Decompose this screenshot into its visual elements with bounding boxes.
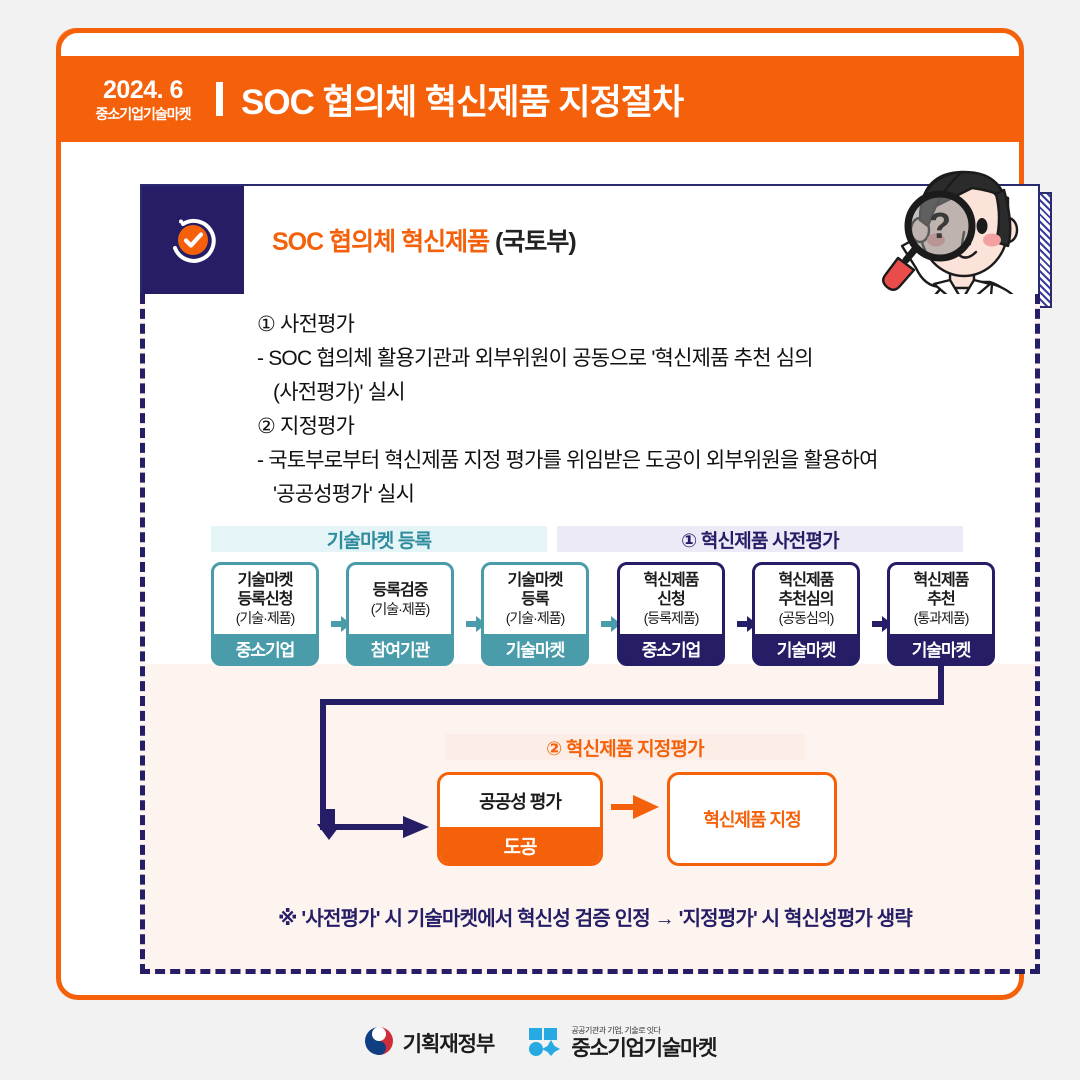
footer-logos: 기획재정부 공공기관과 기업, 기술로 잇다 중소기업기술마켓 [0, 1016, 1080, 1070]
flow-node-orange-1: 공공성 평가 도공 [437, 772, 603, 866]
node-line-1: 기술마켓 [508, 571, 563, 590]
flow-node-label: 공공성 평가 [440, 775, 600, 827]
flow-node-actor: 중소기업 [620, 634, 722, 663]
infographic-page: 2024. 6 중소기업기술마켓 SOC 협의체 혁신제품 지정절차 SOC 협 [0, 0, 1080, 1080]
flow-node-text: 기술마켓 등록신청 (기술·제품) [214, 565, 316, 634]
logo-tagline: 공공기관과 기업, 기술로 잇다 [571, 1027, 716, 1035]
flow-node-text: 혁신제품 신청 (등록제품) [620, 565, 722, 634]
node-line-3: (기술·제품) [506, 609, 565, 628]
svg-text:?: ? [929, 205, 951, 246]
taegeuk-icon [364, 1026, 394, 1061]
node-line-1: 혁신제품 [779, 571, 834, 590]
node-line-2: 등록신청 [238, 590, 293, 609]
node-line-3: (공동심의) [779, 609, 834, 628]
node-line-2: 추천심의 [779, 590, 834, 609]
flow-node-teal-2: 등록검증 (기술·제품) 참여기관 [346, 562, 454, 666]
band-registration: 기술마켓 등록 [211, 526, 547, 552]
check-circle-icon [142, 186, 244, 294]
flow-node-actor: 기술마켓 [890, 634, 992, 663]
logo-tech-market-label: 중소기업기술마켓 [571, 1038, 716, 1059]
footnote: ※ '사전평가' 시 기술마켓에서 혁신성 검증 인정 → '지정평가' 시 혁… [145, 902, 1045, 931]
node-line-1: 기술마켓 [238, 571, 293, 590]
section-title: SOC 협의체 혁신제품 (국토부) [272, 222, 576, 258]
node-line-2: 신청 [657, 590, 684, 609]
flow-node-actor: 중소기업 [214, 634, 316, 663]
flow-node-text: 혁신제품 추천심의 (공동심의) [755, 565, 857, 634]
flow-node-text: 등록검증 (기술·제품) [349, 565, 451, 634]
logo-tech-market: 공공기관과 기업, 기술로 잇다 중소기업기술마켓 [528, 1026, 716, 1061]
node-line-3: (기술·제품) [371, 600, 430, 619]
node-line-3: (등록제품) [644, 609, 699, 628]
band-preevaluation: ① 혁신제품 사전평가 [557, 526, 963, 552]
flow-node-actor: 기술마켓 [755, 634, 857, 663]
flow-node-actor: 참여기관 [349, 634, 451, 663]
node-line-3: (기술·제품) [236, 609, 295, 628]
page-title: SOC 협의체 혁신제품 지정절차 [241, 74, 683, 125]
vertical-bar-icon [216, 82, 223, 116]
node-line-1: 혁신제품 [644, 571, 699, 590]
node-line-1: 혁신제품 [914, 571, 969, 590]
flow-node-teal-1: 기술마켓 등록신청 (기술·제품) 중소기업 [211, 562, 319, 666]
logo-moef-label: 기획재정부 [403, 1028, 495, 1058]
flow-diagram: 기술마켓 등록 ① 혁신제품 사전평가 ② 혁신제품 지정평가 기술마켓 등록신… [145, 294, 1045, 974]
logo-tech-market-text: 공공기관과 기업, 기술로 잇다 중소기업기술마켓 [571, 1027, 716, 1059]
flow-node-navy-2: 혁신제품 추천심의 (공동심의) 기술마켓 [752, 562, 860, 666]
header-date: 2024. 6 [84, 78, 202, 103]
flow-node-orange-2: 혁신제품 지정 [667, 772, 837, 866]
page-header: 2024. 6 중소기업기술마켓 SOC 협의체 혁신제품 지정절차 [56, 56, 1024, 142]
flow-node-navy-3: 혁신제품 추천 (통과제품) 기술마켓 [887, 562, 995, 666]
band-designation: ② 혁신제품 지정평가 [445, 734, 805, 760]
flow-node-actor: 기술마켓 [484, 634, 586, 663]
logo-moef: 기획재정부 [364, 1026, 495, 1061]
tech-market-icon [528, 1026, 562, 1061]
flow-node-actor: 도공 [440, 827, 600, 863]
flow-node-text: 기술마켓 등록 (기술·제품) [484, 565, 586, 634]
flow-node-label: 혁신제품 지정 [670, 775, 834, 863]
page-body: SOC 협의체 혁신제품 (국토부) [56, 142, 1024, 1000]
node-line-2: 추천 [927, 590, 954, 609]
flow-node-teal-3: 기술마켓 등록 (기술·제품) 기술마켓 [481, 562, 589, 666]
section-title-main: SOC 협의체 혁신제품 [272, 228, 489, 256]
section-title-paren: (국토부) [495, 228, 576, 256]
node-line-2: 등록 [521, 590, 548, 609]
header-org: 중소기업기술마켓 [84, 107, 202, 121]
node-line-3: (통과제품) [914, 609, 969, 628]
flow-node-text: 혁신제품 추천 (통과제품) [890, 565, 992, 634]
node-line-1: 등록검증 [373, 581, 428, 600]
content-panel: ① 사전평가 - SOC 협의체 활용기관과 외부위원이 공동으로 '혁신제품 … [140, 294, 1040, 974]
flow-node-navy-1: 혁신제품 신청 (등록제품) 중소기업 [617, 562, 725, 666]
header-date-block: 2024. 6 중소기업기술마켓 [84, 78, 202, 121]
